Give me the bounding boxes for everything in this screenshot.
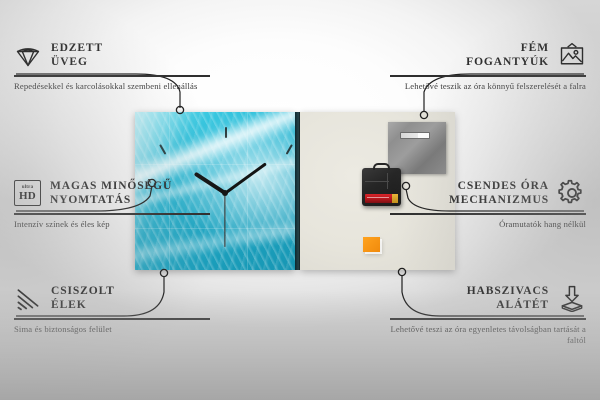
connector-node-polished-edges [160,269,167,276]
feature-divider [14,318,210,320]
mechanism-handle [373,163,390,170]
feature-description: Repedésekkel és karcolásokkal szembeni e… [14,81,210,92]
feature-title: CSISZOLT ÉLEK [51,284,115,313]
feature-title-line: NYOMTATÁS [50,193,172,207]
foam-pad-spacer [363,237,380,252]
feature-description: Lehetővé teszik az óra könnyű felszerelé… [390,81,586,92]
feature-divider [14,213,210,215]
feature-header: EDZETT ÜVEG [14,38,210,72]
feature-title-line: FOGANTYÚK [466,55,549,69]
feature-metal-handles: FÉM FOGANTYÚK Lehetővé teszik az óra kön… [390,38,586,92]
feature-foam-pad: HABSZIVACS ALÁTÉT Lehetővé teszi az óra … [390,281,586,347]
battery-stripe [367,197,389,198]
hanger-slot [400,132,430,139]
feature-title-line: FÉM [466,41,549,55]
feature-title-line: MECHANIZMUS [449,193,549,207]
clock-tick [225,127,227,138]
feature-hd-print: ultra HD MAGAS MINŐSÉGŰ NYOMTATÁS Intenz… [14,176,210,230]
gear-icon [558,179,586,207]
feature-description: Sima és biztonságos felület [14,324,210,335]
feature-title: MAGAS MINŐSÉGŰ NYOMTATÁS [50,179,172,208]
panel-seam-v2 [247,112,248,270]
feature-title-line: HABSZIVACS [467,284,549,298]
feature-title-line: ALÁTÉT [467,298,549,312]
feature-description: Lehetővé teszi az óra egyenletes távolsá… [390,324,586,347]
feature-header: CSENDES ÓRA MECHANIZMUS [390,176,586,210]
feature-divider [390,213,586,215]
feature-header: FÉM FOGANTYÚK [390,38,586,72]
ultra-hd-icon: ultra HD [14,180,41,206]
feature-title-line: CSISZOLT [51,284,115,298]
feature-divider [14,75,210,77]
feature-title-line: ÜVEG [51,55,103,69]
feature-title: FÉM FOGANTYÚK [466,41,549,70]
feature-header: HABSZIVACS ALÁTÉT [390,281,586,315]
ultra-hd-large-text: HD [19,191,36,202]
feature-header: CSISZOLT ÉLEK [14,281,210,315]
feature-quiet-movement: CSENDES ÓRA MECHANIZMUS Óramutatók hang … [390,176,586,230]
mechanism-seam [365,181,389,182]
feature-title-line: CSENDES ÓRA [449,179,549,193]
infographic-canvas: EDZETT ÜVEG Repedésekkel és karcolásokka… [0,0,600,400]
feature-title: EDZETT ÜVEG [51,41,103,70]
panel-seam-h1 [135,164,295,165]
feature-divider [390,75,586,77]
feature-title: CSENDES ÓRA MECHANIZMUS [449,179,549,208]
arrow-onto-pad-icon [558,284,586,312]
feature-title: HABSZIVACS ALÁTÉT [467,284,549,313]
mechanism-seam-2 [387,173,388,189]
picture-frame-hanger-icon [558,41,586,69]
feature-description: Intenzív színek és éles kép [14,219,210,230]
feature-polished-edges: CSISZOLT ÉLEK Sima és biztonságos felüle… [14,281,210,335]
ultra-hd-small-text: ultra [22,185,34,190]
diamond-icon [14,41,42,69]
feature-title-line: ÉLEK [51,298,115,312]
feature-tempered-glass: EDZETT ÜVEG Repedésekkel és karcolásokka… [14,38,210,92]
clock-center-cap [222,190,228,196]
feature-divider [390,318,586,320]
hatch-lines-icon [14,284,42,312]
feature-title-line: MAGAS MINŐSÉGŰ [50,179,172,193]
metal-hanger [388,122,446,174]
feature-header: ultra HD MAGAS MINŐSÉGŰ NYOMTATÁS [14,176,210,210]
feature-description: Óramutatók hang nélkül [390,219,586,230]
feature-title-line: EDZETT [51,41,103,55]
